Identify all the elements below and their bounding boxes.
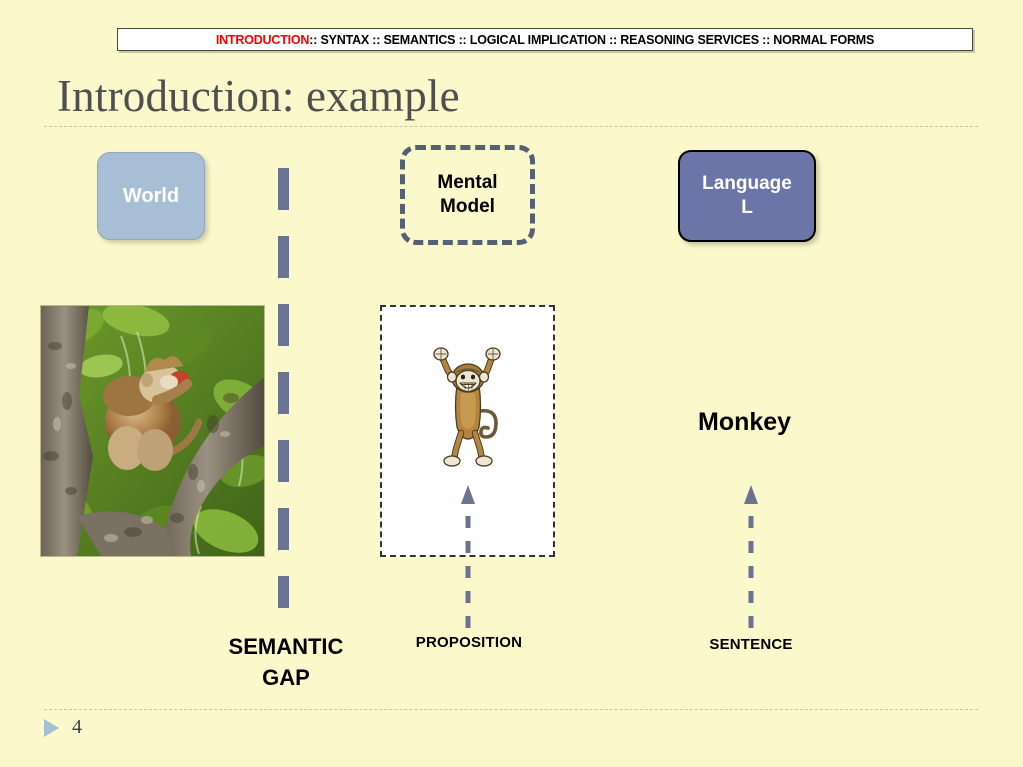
slide-footer: 4 (44, 716, 82, 739)
language-box[interactable]: LanguageL (678, 150, 816, 242)
mental-model-box-label: MentalModel (437, 171, 497, 220)
language-box-label: LanguageL (702, 172, 792, 221)
monkey-photograph-icon (41, 306, 264, 556)
section-breadcrumb-bar[interactable]: INTRODUCTION:: SYNTAX :: SEMANTICS :: LO… (117, 28, 973, 51)
semantic-gap-caption: SEMANTICGAP (196, 631, 376, 693)
semantic-gap-caption-line2: GAP (262, 665, 310, 690)
breadcrumb-trail: :: SYNTAX :: SEMANTICS :: LOGICAL IMPLIC… (309, 33, 874, 47)
breadcrumb-item-introduction[interactable]: INTRODUCTION (216, 33, 309, 47)
page-number: 4 (72, 716, 82, 739)
language-box-label-line2: L (741, 197, 753, 218)
breadcrumb: INTRODUCTION:: SYNTAX :: SEMANTICS :: LO… (216, 33, 874, 47)
sentence-arrow-up-icon (738, 480, 764, 628)
world-photo (40, 305, 265, 557)
title-divider-rule (44, 126, 978, 127)
sentence-caption: SENTENCE (661, 636, 841, 653)
mental-model-box-label-line1: Mental (437, 172, 497, 193)
triangle-bullet-icon (44, 719, 59, 737)
world-box[interactable]: World (97, 152, 205, 240)
page-title: Introduction: example (57, 70, 460, 122)
semantic-gap-caption-line1: SEMANTIC (229, 634, 344, 659)
mental-model-box[interactable]: MentalModel (400, 145, 535, 245)
proposition-caption: PROPOSITION (379, 634, 559, 651)
proposition-arrow-up-icon (455, 480, 481, 628)
semantic-gap-divider (278, 168, 289, 608)
slide-canvas: INTRODUCTION:: SYNTAX :: SEMANTICS :: LO… (0, 0, 1023, 767)
cartoon-monkey-icon (430, 345, 506, 467)
world-box-label: World (123, 185, 179, 208)
language-box-label-line1: Language (702, 173, 792, 194)
language-word: Monkey (698, 408, 791, 437)
footer-divider-rule (44, 709, 978, 710)
mental-model-box-label-line2: Model (440, 196, 495, 217)
